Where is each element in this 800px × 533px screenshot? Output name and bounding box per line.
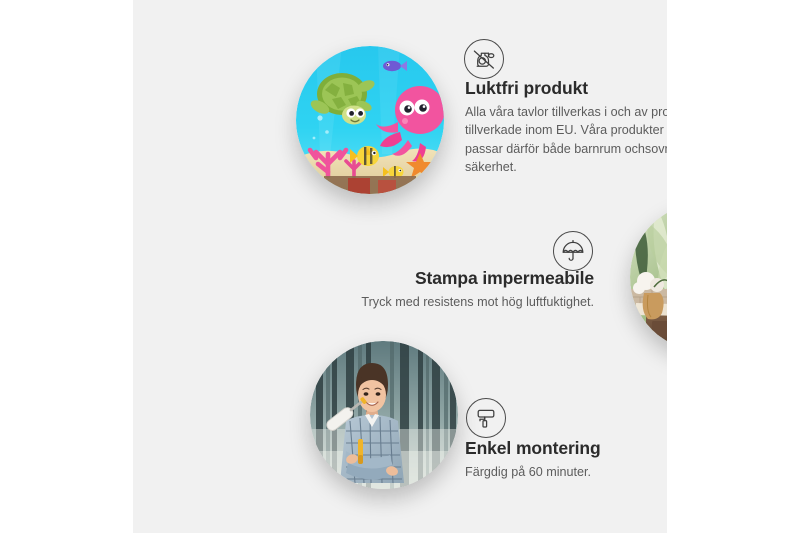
right-white-margin — [667, 0, 800, 533]
feature-text-stampa-impermeabile: Stampa impermeabile Tryck med resistens … — [313, 268, 594, 311]
umbrella-icon — [553, 231, 593, 271]
paint-roller-icon — [466, 398, 506, 438]
feature-infographic-page: Luktfri produkt Alla våra tavlor tillver… — [0, 0, 800, 533]
feature-text-luktfri-produkt: Luktfri produkt Alla våra tavlor tillver… — [465, 78, 667, 177]
feature-title: Stampa impermeabile — [313, 268, 594, 290]
feature-image-bathroom-wallpaper — [630, 203, 667, 351]
feature-title: Enkel montering — [465, 438, 667, 460]
content-panel: Luktfri produkt Alla våra tavlor tillver… — [133, 0, 667, 533]
feature-description: Tryck med resistens mot hög luftfuktighe… — [313, 293, 594, 312]
left-white-margin — [0, 0, 133, 533]
no-fragrance-icon — [464, 39, 504, 79]
feature-image-underwater-scene — [296, 46, 444, 194]
feature-description: Alla våra tavlor tillverkas i och av pro… — [465, 103, 667, 177]
feature-text-enkel-montering: Enkel montering Färgdig på 60 minuter. — [465, 438, 667, 481]
feature-title: Luktfri produkt — [465, 78, 667, 100]
feature-image-woman-paint-roller — [310, 341, 458, 489]
feature-description: Färgdig på 60 minuter. — [465, 463, 667, 482]
